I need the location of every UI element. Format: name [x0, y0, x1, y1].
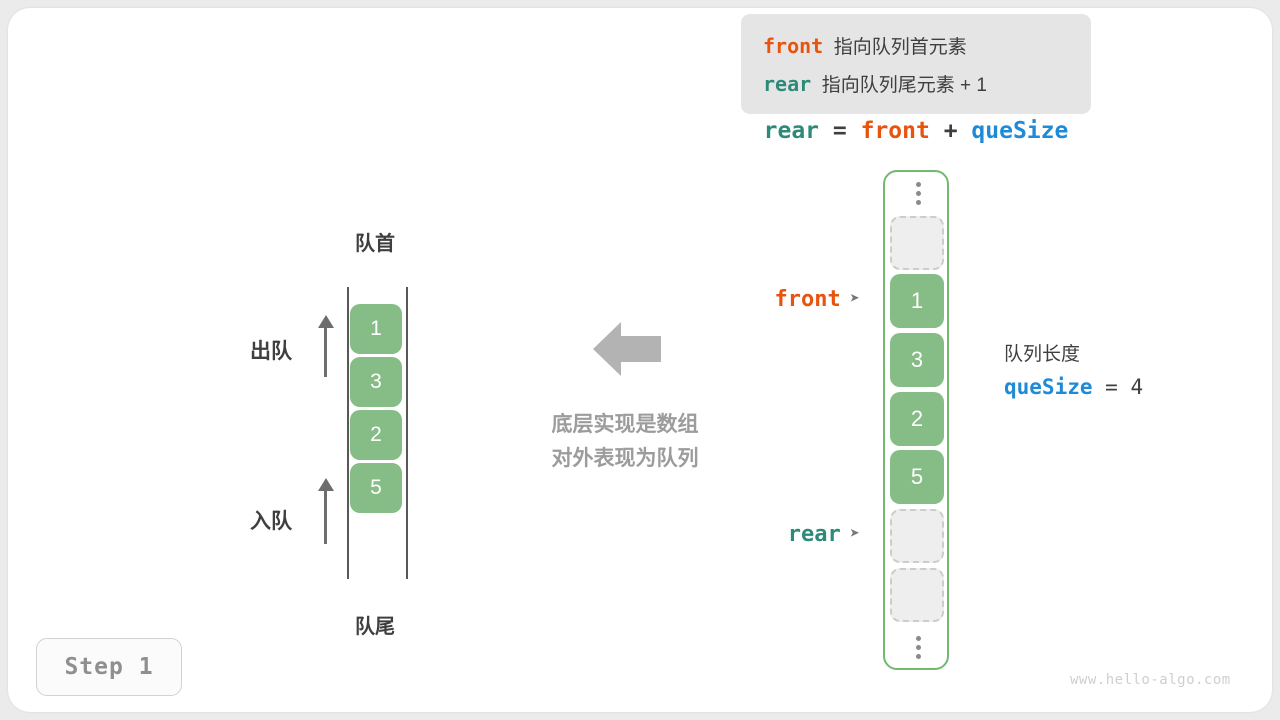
pointer-rear: rear ➤	[700, 519, 860, 549]
middle-caption-line2: 对外表现为队列	[510, 442, 740, 476]
dequeue-label: 出队	[250, 335, 292, 365]
queue-rail-left	[347, 287, 349, 579]
queue-item-value: 3	[370, 370, 382, 394]
queue-tail-label: 队尾	[300, 610, 450, 639]
queue-item-value: 2	[370, 423, 382, 447]
quesize-expression: queSize = 4	[1004, 370, 1224, 404]
middle-caption-line1: 底层实现是数组	[510, 408, 740, 442]
enqueue-arrow-icon	[313, 478, 339, 544]
array-ellipsis-top	[885, 174, 951, 212]
array-cell-5-empty	[890, 509, 944, 563]
formula-lhs: rear	[764, 118, 819, 144]
array-cell-3: 2	[890, 392, 944, 446]
array-cell-value: 2	[911, 406, 923, 432]
legend-desc-rear: 指向队列尾元素 + 1	[822, 75, 987, 96]
legend-box: front 指向队列首元素 rear 指向队列尾元素 + 1	[741, 14, 1091, 114]
array-cell-value: 5	[911, 464, 923, 490]
legend-term-front: front	[763, 34, 823, 58]
queue-item-1: 3	[350, 357, 402, 407]
formula-rhs-quesize: queSize	[971, 118, 1068, 144]
legend-desc-front: 指向队列首元素	[834, 37, 967, 58]
formula-rear-equals: rear = front + queSize	[741, 118, 1091, 144]
queue-item-value: 5	[370, 476, 382, 500]
pointer-rear-arrow-icon: ➤	[850, 524, 860, 544]
arrow-left-icon	[593, 322, 661, 376]
array-cell-1: 1	[890, 274, 944, 328]
quesize-annotation: 队列长度 queSize = 4	[1004, 340, 1224, 404]
formula-equals: =	[833, 118, 847, 144]
array-cell-2: 3	[890, 333, 944, 387]
quesize-value: 4	[1130, 375, 1143, 399]
queue-item-0: 1	[350, 304, 402, 354]
watermark: www.hello-algo.com	[1070, 672, 1231, 688]
array-cell-0-empty	[890, 216, 944, 270]
array-ellipsis-bottom	[885, 628, 951, 666]
array-cell-value: 1	[911, 288, 923, 314]
middle-caption: 底层实现是数组 对外表现为队列	[510, 408, 740, 476]
queue-item-3: 5	[350, 463, 402, 513]
queue-rail-right	[406, 287, 408, 579]
quesize-label: 队列长度	[1004, 340, 1224, 370]
queue-item-value: 1	[370, 317, 382, 341]
queue-head-label: 队首	[300, 227, 450, 256]
array-cell-6-empty	[890, 568, 944, 622]
enqueue-label: 入队	[250, 505, 292, 535]
queue-item-2: 2	[350, 410, 402, 460]
step-badge: Step 1	[36, 638, 182, 696]
quesize-equals: =	[1105, 375, 1118, 399]
legend-line-front: front 指向队列首元素	[763, 28, 1091, 66]
formula-plus: +	[944, 118, 958, 144]
pointer-front-label: front	[775, 287, 841, 312]
pointer-rear-label: rear	[788, 522, 841, 547]
array-cell-value: 3	[911, 347, 923, 373]
dequeue-arrow-icon	[313, 315, 339, 377]
formula-rhs-front: front	[861, 118, 930, 144]
pointer-front-arrow-icon: ➤	[850, 289, 860, 309]
legend-line-rear: rear 指向队列尾元素 + 1	[763, 66, 1091, 104]
diagram-canvas: front 指向队列首元素 rear 指向队列尾元素 + 1 rear = fr…	[0, 0, 1280, 720]
legend-term-rear: rear	[763, 72, 811, 96]
quesize-name: queSize	[1004, 375, 1093, 399]
array-container: 1 3 2 5	[883, 170, 949, 670]
pointer-front: front ➤	[700, 284, 860, 314]
array-cell-4: 5	[890, 450, 944, 504]
